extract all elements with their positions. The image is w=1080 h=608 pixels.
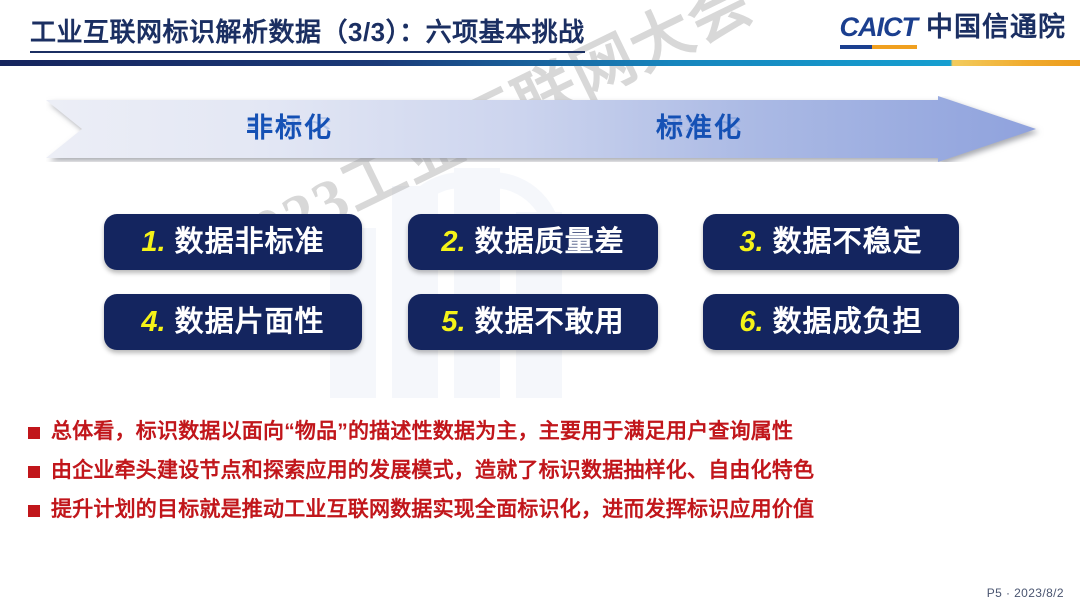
- arrow-shape-icon: [46, 96, 1048, 162]
- slide: 2023工业互联网大会 工业互联网标识解析数据（3/3）：六项基本挑战 CAIC…: [0, 0, 1080, 608]
- page-title: 工业互联网标识解析数据（3/3）：六项基本挑战: [30, 12, 585, 53]
- challenge-label: 数据片面性: [175, 308, 325, 337]
- challenge-chip-4[interactable]: 4. 数据片面性: [104, 294, 362, 350]
- slide-header: 工业互联网标识解析数据（3/3）：六项基本挑战 CAICT 中国信通院: [0, 0, 1080, 66]
- challenge-label: 数据不稳定: [773, 228, 923, 257]
- header-divider: [0, 60, 1080, 66]
- logo-chinese-name: 中国信通院: [926, 12, 1066, 42]
- bullet-text: 总体看，标识数据以面向“物品”的描述性数据为主，主要用于满足用户查询属性: [51, 418, 793, 446]
- challenge-chip-2[interactable]: 2. 数据质量差: [408, 214, 658, 270]
- standardization-arrow: 非标化 标准化 非标化 标准化: [46, 96, 1048, 162]
- bullet-square-icon: [28, 427, 40, 439]
- logo-underline-blue: [840, 45, 873, 49]
- challenge-chip-6[interactable]: 6. 数据成负担: [703, 294, 959, 350]
- bullet-item: 提升计划的目标就是推动工业互联网数据实现全面标识化，进而发挥标识应用价值: [28, 496, 1058, 524]
- challenge-label: 数据成负担: [773, 308, 923, 337]
- summary-bullets: 总体看，标识数据以面向“物品”的描述性数据为主，主要用于满足用户查询属性 由企业…: [28, 418, 1058, 535]
- challenge-row-2: 4. 数据片面性 5. 数据不敢用 6. 数据成负担: [0, 294, 1080, 356]
- challenge-label: 数据非标准: [175, 228, 325, 257]
- challenge-label: 数据质量差: [475, 228, 625, 257]
- logo-underline-icon: [840, 45, 918, 49]
- challenge-row-1: 1. 数据非标准 2. 数据质量差 3. 数据不稳定: [0, 214, 1080, 276]
- challenge-chip-3[interactable]: 3. 数据不稳定: [703, 214, 959, 270]
- logo-underline-gold: [872, 45, 917, 49]
- challenge-chip-5[interactable]: 5. 数据不敢用: [408, 294, 658, 350]
- challenge-number: 1.: [141, 228, 165, 257]
- arrow-label-left-reflection: 非标化: [246, 115, 333, 136]
- caict-logo: CAICT 中国信通院: [840, 12, 1067, 48]
- bullet-item: 总体看，标识数据以面向“物品”的描述性数据为主，主要用于满足用户查询属性: [28, 418, 1058, 446]
- slide-footer: P5 · 2023/8/2: [987, 586, 1064, 600]
- bullet-text: 提升计划的目标就是推动工业互联网数据实现全面标识化，进而发挥标识应用价值: [51, 496, 814, 524]
- challenge-number: 4.: [141, 308, 165, 337]
- bullet-square-icon: [28, 505, 40, 517]
- challenge-number: 5.: [441, 308, 465, 337]
- arrow-label-right-reflection: 标准化: [656, 115, 743, 136]
- logo-caict-text: CAICT: [840, 12, 918, 42]
- logo-wordmark: CAICT: [840, 12, 918, 49]
- challenge-label: 数据不敢用: [475, 308, 625, 337]
- bullet-text: 由企业牵头建设节点和探索应用的发展模式，造就了标识数据抽样化、自由化特色: [51, 457, 814, 485]
- bullet-square-icon: [28, 466, 40, 478]
- challenge-grid: 1. 数据非标准 2. 数据质量差 3. 数据不稳定 4. 数据片面性 5. 数…: [0, 214, 1080, 370]
- challenge-number: 3.: [739, 228, 763, 257]
- challenge-chip-1[interactable]: 1. 数据非标准: [104, 214, 362, 270]
- challenge-number: 2.: [441, 228, 465, 257]
- bullet-item: 由企业牵头建设节点和探索应用的发展模式，造就了标识数据抽样化、自由化特色: [28, 457, 1058, 485]
- challenge-number: 6.: [739, 308, 763, 337]
